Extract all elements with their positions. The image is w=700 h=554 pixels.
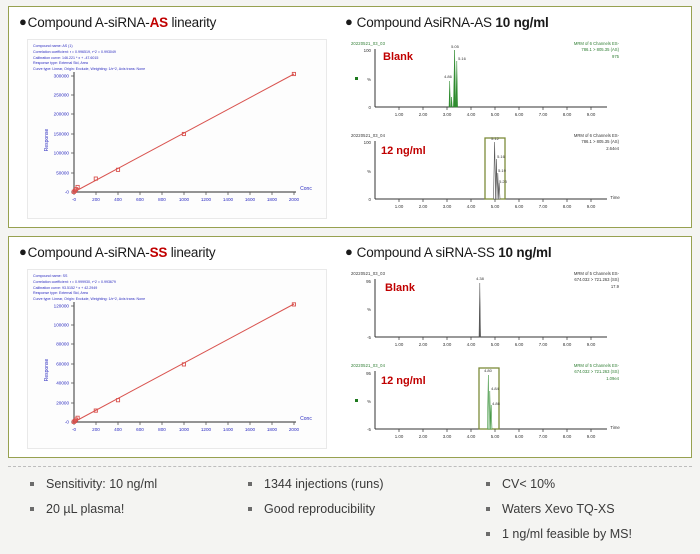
svg-text:800: 800 — [158, 197, 166, 202]
svg-text:3.00: 3.00 — [443, 434, 452, 439]
chrom-title-strong: 10 ng/ml — [495, 15, 548, 30]
svg-text:4.00: 4.00 — [467, 434, 476, 439]
svg-text:7.00: 7.00 — [539, 434, 548, 439]
panel-sirna-as: ●Compound A-siRNA-AS linearity ●Compound… — [8, 6, 692, 228]
square-bullet-icon — [486, 507, 490, 511]
svg-text:7.00: 7.00 — [539, 342, 548, 347]
svg-text:95: 95 — [366, 279, 371, 284]
trace-label-concentration: 12 ng/ml — [381, 375, 426, 387]
svg-text:0: 0 — [369, 105, 372, 110]
mrm-line-2: 674.032 > 721.263 (SS) — [574, 369, 619, 375]
chrom-title-as: ●Compound AsiRNA-AS 10 ng/ml — [345, 14, 549, 30]
svg-text:50000: 50000 — [56, 171, 69, 176]
svg-text:9.00: 9.00 — [587, 434, 596, 439]
svg-text:7.00: 7.00 — [539, 204, 548, 209]
svg-text:1.00: 1.00 — [395, 434, 404, 439]
svg-text:1.00: 1.00 — [395, 342, 404, 347]
mrm-line-3: 2.64e4 — [574, 146, 619, 152]
svg-text:%: % — [367, 399, 371, 404]
mrm-line-2: 786.1 > 805.35 (AS) — [574, 47, 619, 53]
trace-label-blank: Blank — [385, 282, 415, 294]
svg-text:100000: 100000 — [54, 323, 70, 328]
svg-text:5.12: 5.12 — [491, 136, 500, 141]
list-item-label: Waters Xevo TQ-XS — [502, 502, 615, 516]
summary-section: Sensitivity: 10 ng/ml 20 µL plasma! 1344… — [8, 466, 692, 548]
svg-text:-0: -0 — [65, 420, 70, 425]
list-item-label: 20 µL plasma! — [46, 502, 124, 516]
svg-text:400: 400 — [114, 197, 122, 202]
svg-text:Response: Response — [44, 129, 50, 152]
chrom-title-pre: Compound AsiRNA-AS — [357, 15, 496, 30]
panel-sirna-ss: ●Compound A-siRNA-SS linearity ●Compound… — [8, 236, 692, 458]
list-item-label: Sensitivity: 10 ng/ml — [46, 477, 157, 491]
summary-column-2: 1344 injections (runs) Good reproducibil… — [248, 477, 384, 527]
mrm-line-2: 674.032 > 721.263 (SS) — [574, 277, 619, 283]
chromatogram-ss-blank: 20220521_03_03 MRM of 5 Channels ES- 674… — [349, 271, 621, 355]
calibration-svg-as: 300000 250000 200000 150000 100000 50000… — [28, 40, 328, 220]
svg-text:5.00: 5.00 — [491, 112, 500, 117]
calibration-plot-as: Compound name: AS (1) Correlation coeffi… — [27, 39, 327, 219]
svg-text:Time: Time — [610, 425, 620, 430]
svg-text:6.00: 6.00 — [515, 342, 524, 347]
svg-text:6.00: 6.00 — [515, 112, 524, 117]
svg-text:600: 600 — [136, 427, 144, 432]
square-bullet-icon — [248, 482, 252, 486]
svg-text:95: 95 — [366, 371, 371, 376]
title-text-accent: SS — [150, 245, 168, 260]
svg-text:0: 0 — [369, 197, 372, 202]
svg-text:Response: Response — [44, 359, 50, 382]
svg-text:4.80: 4.80 — [484, 368, 493, 373]
svg-text:2.00: 2.00 — [419, 342, 428, 347]
svg-text:200: 200 — [92, 427, 100, 432]
svg-text:8.00: 8.00 — [563, 204, 572, 209]
svg-text:250000: 250000 — [54, 93, 70, 98]
svg-text:1200: 1200 — [201, 427, 212, 432]
svg-text:Time: Time — [610, 195, 620, 200]
title-text-post: linearity — [168, 15, 216, 30]
list-item: 20 µL plasma! — [30, 502, 157, 516]
slide-page: ●Compound A-siRNA-AS linearity ●Compound… — [0, 0, 700, 554]
chrom-title-strong: 10 ng/ml — [498, 245, 551, 260]
svg-text:200: 200 — [92, 197, 100, 202]
svg-text:2.00: 2.00 — [419, 112, 428, 117]
svg-text:1400: 1400 — [223, 197, 234, 202]
svg-text:4.84: 4.84 — [491, 386, 500, 391]
bullet-icon: ● — [19, 14, 27, 29]
list-item: Waters Xevo TQ-XS — [486, 502, 632, 516]
sample-id: 20220521_03_04 — [351, 363, 385, 368]
svg-text:4.86: 4.86 — [444, 74, 453, 79]
square-bullet-icon — [486, 482, 490, 486]
svg-text:5.16: 5.16 — [497, 154, 506, 159]
list-item: Sensitivity: 10 ng/ml — [30, 477, 157, 491]
svg-text:40000: 40000 — [56, 381, 69, 386]
mrm-line-2: 786.1 > 805.35 (AS) — [574, 139, 619, 145]
svg-text:6.00: 6.00 — [515, 204, 524, 209]
svg-text:%: % — [367, 307, 371, 312]
svg-text:8.00: 8.00 — [563, 434, 572, 439]
trace-label-concentration: 12 ng/ml — [381, 145, 426, 157]
svg-text:1400: 1400 — [223, 427, 234, 432]
svg-text:1000: 1000 — [179, 197, 190, 202]
sample-id: 20220521_03_03 — [351, 41, 385, 46]
svg-text:9.00: 9.00 — [587, 342, 596, 347]
svg-text:9.00: 9.00 — [587, 204, 596, 209]
summary-column-1: Sensitivity: 10 ng/ml 20 µL plasma! — [30, 477, 157, 527]
summary-column-3: CV< 10% Waters Xevo TQ-XS 1 ng/ml feasib… — [486, 477, 632, 552]
svg-text:5.19: 5.19 — [498, 168, 507, 173]
svg-text:1.00: 1.00 — [395, 112, 404, 117]
page-title-as: ●Compound A-siRNA-AS linearity — [19, 14, 216, 30]
svg-text:4.38: 4.38 — [476, 276, 485, 281]
title-text-pre: Compound A-siRNA- — [28, 15, 150, 30]
svg-text:2.00: 2.00 — [419, 434, 428, 439]
svg-text:100000: 100000 — [54, 151, 70, 156]
svg-text:2.00: 2.00 — [419, 204, 428, 209]
chromatogram-as-12ngml: 20220521_03_04 MRM of 6 Channels ES- 786… — [349, 133, 621, 217]
svg-text:1.00: 1.00 — [395, 204, 404, 209]
svg-text:800: 800 — [158, 427, 166, 432]
square-bullet-icon — [486, 532, 490, 536]
svg-text:8.00: 8.00 — [563, 342, 572, 347]
calibration-svg-ss: 120000 100000 80000 60000 40000 20000 -0 — [28, 270, 328, 450]
svg-text:80000: 80000 — [56, 342, 69, 347]
list-item: 1 ng/ml feasible by MS! — [486, 527, 632, 541]
mrm-line-3: 17.9 — [574, 284, 619, 290]
svg-text:-0: -0 — [72, 427, 77, 432]
svg-text:5.16: 5.16 — [458, 56, 467, 61]
list-item-label: 1344 injections (runs) — [264, 477, 384, 491]
svg-text:3.00: 3.00 — [443, 342, 452, 347]
chrom-title-ss: ●Compound A siRNA-SS 10 ng/ml — [345, 244, 551, 260]
page-title-ss: ●Compound A-siRNA-SS linearity — [19, 244, 215, 260]
svg-text:300000: 300000 — [54, 74, 70, 79]
svg-text:20000: 20000 — [56, 401, 69, 406]
bullet-icon: ● — [345, 14, 353, 29]
svg-text:4.00: 4.00 — [467, 342, 476, 347]
svg-text:Conc: Conc — [300, 416, 312, 422]
svg-text:4.86: 4.86 — [492, 401, 501, 406]
svg-text:-0: -0 — [65, 190, 70, 195]
svg-text:1800: 1800 — [267, 197, 278, 202]
svg-text:9.00: 9.00 — [587, 112, 596, 117]
mrm-line-3: 1.09e4 — [574, 376, 619, 382]
svg-text:200000: 200000 — [54, 112, 70, 117]
svg-text:400: 400 — [114, 427, 122, 432]
svg-text:600: 600 — [136, 197, 144, 202]
svg-text:2000: 2000 — [289, 197, 300, 202]
svg-text:120000: 120000 — [54, 304, 70, 309]
svg-text:5.00: 5.00 — [491, 342, 500, 347]
square-bullet-icon — [30, 482, 34, 486]
list-item-label: Good reproducibility — [264, 502, 375, 516]
chromatogram-ss-12ngml: 20220521_03_04 MRM of 5 Channels ES- 674… — [349, 363, 621, 447]
calibration-plot-ss: Compound name: SS Correlation coefficien… — [27, 269, 327, 449]
svg-text:-5: -5 — [367, 427, 371, 432]
list-item-label: CV< 10% — [502, 477, 555, 491]
trace-label-blank: Blank — [383, 51, 413, 63]
svg-text:3.00: 3.00 — [443, 204, 452, 209]
svg-text:%: % — [367, 169, 371, 174]
title-text-pre: Compound A-siRNA- — [28, 245, 150, 260]
square-bullet-icon — [30, 507, 34, 511]
bullet-icon: ● — [345, 244, 353, 259]
svg-text:1600: 1600 — [245, 427, 256, 432]
svg-text:100: 100 — [364, 48, 372, 53]
mrm-annotation: MRM of 5 Channels ES- 674.032 > 721.263 … — [574, 363, 619, 382]
svg-text:4.00: 4.00 — [467, 204, 476, 209]
sample-id: 20220521_03_03 — [351, 271, 385, 276]
square-bullet-icon — [248, 507, 252, 511]
chrom-title-pre: Compound A siRNA-SS — [357, 245, 499, 260]
mrm-line-3: 975 — [574, 54, 619, 60]
list-item: Good reproducibility — [248, 502, 384, 516]
svg-text:3.00: 3.00 — [443, 112, 452, 117]
svg-text:Conc: Conc — [300, 186, 312, 192]
title-text-post: linearity — [167, 245, 215, 260]
list-item: CV< 10% — [486, 477, 632, 491]
svg-text:2000: 2000 — [289, 427, 300, 432]
svg-text:1800: 1800 — [267, 427, 278, 432]
svg-text:8.00: 8.00 — [563, 112, 572, 117]
svg-text:%: % — [367, 77, 371, 82]
svg-text:-0: -0 — [72, 197, 77, 202]
svg-text:-5: -5 — [367, 335, 371, 340]
mrm-annotation: MRM of 5 Channels ES- 674.032 > 721.263 … — [574, 271, 619, 290]
svg-text:100: 100 — [364, 140, 372, 145]
svg-text:5.23: 5.23 — [499, 179, 508, 184]
mrm-annotation: MRM of 6 Channels ES- 786.1 > 805.35 (AS… — [574, 41, 619, 60]
svg-text:1200: 1200 — [201, 197, 212, 202]
chromatogram-as-blank: 20220521_03_03 MRM of 6 Channels ES- 786… — [349, 41, 621, 125]
svg-text:60000: 60000 — [56, 362, 69, 367]
svg-text:4.00: 4.00 — [467, 112, 476, 117]
svg-text:5.00: 5.00 — [491, 434, 500, 439]
list-item-label: 1 ng/ml feasible by MS! — [502, 527, 632, 541]
svg-text:1000: 1000 — [179, 427, 190, 432]
sample-id: 20220521_03_04 — [351, 133, 385, 138]
svg-text:150000: 150000 — [54, 132, 70, 137]
svg-text:5.05: 5.05 — [451, 44, 460, 49]
list-item: 1344 injections (runs) — [248, 477, 384, 491]
svg-text:7.00: 7.00 — [539, 112, 548, 117]
svg-text:6.00: 6.00 — [515, 434, 524, 439]
title-text-accent: AS — [150, 15, 168, 30]
svg-text:5.00: 5.00 — [491, 204, 500, 209]
svg-text:1600: 1600 — [245, 197, 256, 202]
bullet-icon: ● — [19, 244, 27, 259]
mrm-annotation: MRM of 6 Channels ES- 786.1 > 805.35 (AS… — [574, 133, 619, 152]
